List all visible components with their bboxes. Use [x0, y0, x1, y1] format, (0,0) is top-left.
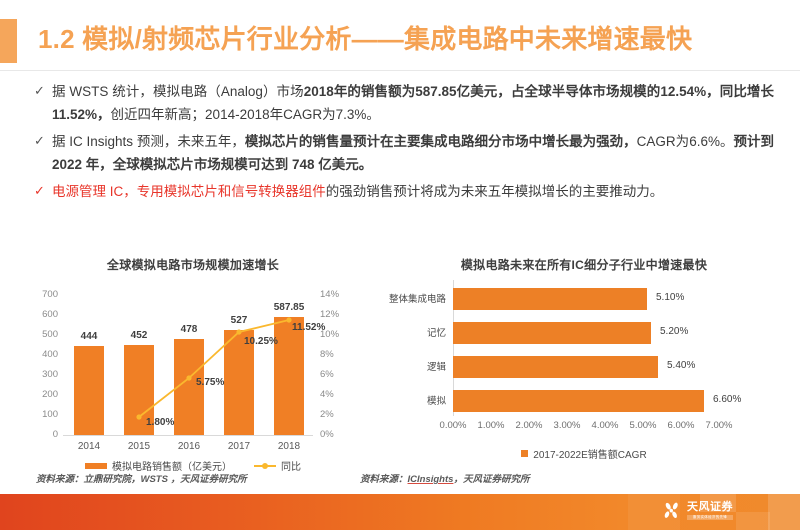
- yoy-label-2018: 11.52%: [292, 322, 325, 333]
- chart-cagr-comparison: 模拟电路未来在所有IC细分子行业中增速最快 整体集成电路 5.10% 记忆 5.…: [378, 250, 790, 490]
- flower-logo-icon: [662, 501, 682, 521]
- check-icon: ✓: [34, 130, 52, 152]
- hbar-row-logic: 逻辑 5.40%: [453, 356, 658, 378]
- hbar-value: 5.10%: [656, 292, 684, 303]
- bullet-text: 据 IC Insights 预测，未来五年，模拟芯片的销售量预计在主要集成电路细…: [52, 130, 774, 176]
- x-tick-2018: 2018: [259, 441, 319, 452]
- source-note-right: 资料来源：ICInsights，天风证券研究所: [360, 471, 529, 485]
- page-title: 1.2 模拟/射频芯片行业分析——集成电路中未来增速最快: [38, 17, 692, 61]
- hbar-row-analog: 模拟 6.60%: [453, 390, 704, 412]
- company-logo: 天风证券 服务实体经济的先锋: [662, 501, 733, 521]
- legend-label: 同比: [281, 458, 301, 473]
- yoy-line-path: [139, 320, 289, 417]
- source-suffix: ，天风证券研究所: [453, 474, 529, 485]
- bullet-seg: 据 IC Insights 预测，未来五年，: [52, 134, 245, 149]
- bullet-list: ✓ 据 WSTS 统计，模拟电路（Analog）市场2018年的销售额为587.…: [34, 80, 774, 207]
- yoy-point-2018: [286, 317, 291, 322]
- hbar-fill: [453, 288, 647, 310]
- footer-bar: 天风证券 服务实体经济的先锋: [0, 494, 800, 530]
- hbar-value: 6.60%: [713, 394, 741, 405]
- x-tick-7: 7.00%: [695, 420, 743, 431]
- hbar-fill: [453, 390, 704, 412]
- hbar-category: 模拟: [366, 393, 446, 407]
- hbar-category: 记忆: [366, 325, 446, 339]
- check-icon: ✓: [34, 80, 52, 102]
- source-note-left: 资料来源：立鼎研究院，WSTS ，天风证券研究所: [36, 471, 247, 485]
- hbar-value: 5.20%: [660, 326, 688, 337]
- bullet-seg: CAGR为6.6%。: [637, 134, 734, 149]
- hbar-fill: [453, 322, 651, 344]
- check-icon: ✓: [34, 180, 52, 202]
- legend-square-icon: [521, 450, 528, 457]
- bullet-text: 据 WSTS 统计，模拟电路（Analog）市场2018年的销售额为587.85…: [52, 80, 774, 126]
- yoy-label-2015: 1.80%: [146, 417, 174, 428]
- source-prefix: 资料来源：: [360, 474, 408, 485]
- hbar-category: 整体集成电路: [366, 291, 446, 305]
- list-item: ✓ 据 WSTS 统计，模拟电路（Analog）市场2018年的销售额为587.…: [34, 80, 774, 126]
- combo-plot-area: 0 100 200 300 400 500 600 700 0% 2% 4% 6…: [18, 274, 368, 454]
- list-item: ✓ 据 IC Insights 预测，未来五年，模拟芯片的销售量预计在主要集成电…: [34, 130, 774, 176]
- bullet-text: 电源管理 IC，专用模拟芯片和信号转换器组件的强劲销售预计将成为未来五年模拟增长…: [52, 180, 774, 203]
- bullet-seg: 据 WSTS 统计，模拟电路（Analog）市场: [52, 84, 304, 99]
- bullet-seg: 创近四年新高；2014-2018年CAGR为7.3%。: [111, 107, 380, 122]
- hbar-fill: [453, 356, 658, 378]
- bullet-seg: 的强劲销售预计将成为未来五年模拟增长的主要推动力。: [326, 184, 664, 199]
- logo-text: 天风证券 服务实体经济的先锋: [687, 502, 733, 521]
- source-link[interactable]: ICInsights: [408, 474, 454, 485]
- hbar-row-memory: 记忆 5.20%: [453, 322, 651, 344]
- bullet-seg-bold: 模拟芯片的销售量预计在主要集成电路细分市场中增长最为强劲，: [245, 134, 637, 149]
- yoy-line-series: [18, 274, 368, 454]
- yoy-label-2016: 5.75%: [196, 377, 224, 388]
- bullet-seg-red: 电源管理 IC，专用模拟芯片和信号转换器组件: [52, 184, 326, 199]
- hbar-value: 5.40%: [667, 360, 695, 371]
- legend-label: 2017-2022E销售额CAGR: [533, 446, 646, 461]
- hbar-category: 逻辑: [366, 359, 446, 373]
- logo-company-name: 天风证券: [687, 502, 733, 513]
- title-divider: [0, 70, 800, 71]
- slide-title-bar: 1.2 模拟/射频芯片行业分析——集成电路中未来增速最快: [0, 19, 800, 63]
- hbar-plot-area: 整体集成电路 5.10% 记忆 5.20% 逻辑 5.40% 模拟 6.60% …: [378, 280, 790, 440]
- chart-legend-right: 2017-2022E销售额CAGR: [378, 446, 790, 461]
- yoy-point-2016: [186, 375, 191, 380]
- chart-title-left: 全球模拟电路市场规模加速增长: [18, 256, 368, 273]
- yoy-label-2017: 10.25%: [244, 336, 278, 347]
- title-accent-bar: [0, 19, 17, 63]
- legend-line-swatch-icon: [254, 462, 276, 470]
- legend-bar-swatch-icon: [85, 463, 107, 469]
- footer-tile: [768, 494, 800, 530]
- legend-item-yoy: 同比: [254, 458, 301, 473]
- chart-title-right: 模拟电路未来在所有IC细分子行业中增速最快: [378, 256, 790, 273]
- list-item-highlight: ✓ 电源管理 IC，专用模拟芯片和信号转换器组件的强劲销售预计将成为未来五年模拟…: [34, 180, 774, 203]
- logo-tagline: 服务实体经济的先锋: [687, 515, 733, 521]
- chart-market-size: 全球模拟电路市场规模加速增长 0 100 200 300 400 500 600…: [18, 250, 368, 490]
- hbar-row-ic: 整体集成电路 5.10%: [453, 288, 647, 310]
- yoy-point-2015: [136, 414, 141, 419]
- footer-tile: [736, 512, 770, 530]
- charts-row: 全球模拟电路市场规模加速增长 0 100 200 300 400 500 600…: [0, 250, 800, 490]
- yoy-point-2017: [236, 329, 241, 334]
